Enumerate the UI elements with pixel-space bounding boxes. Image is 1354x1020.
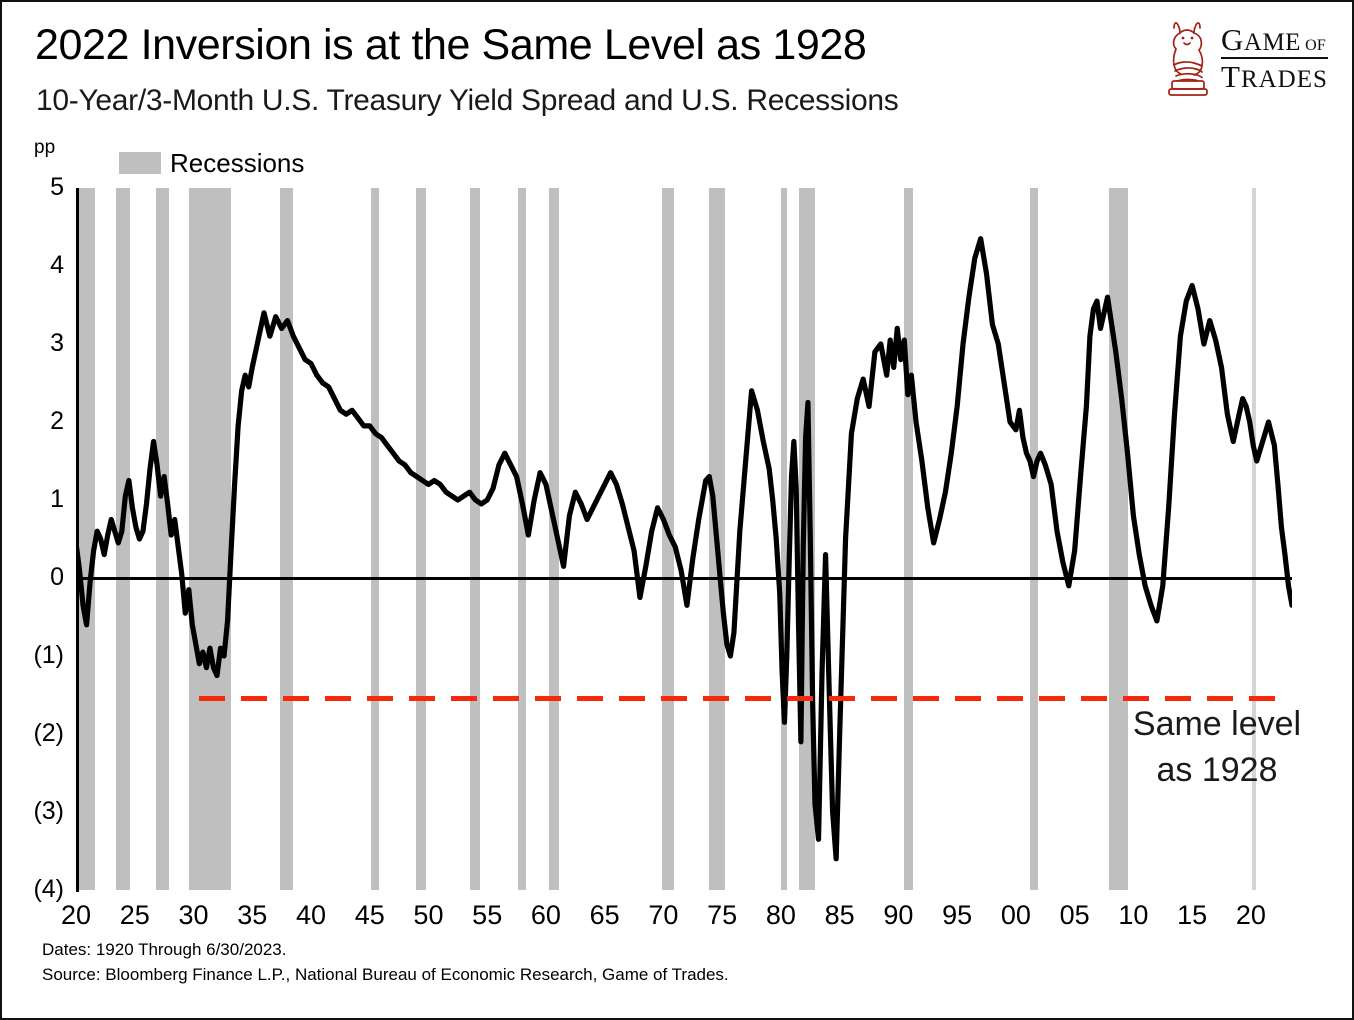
x-axis-tick-label: 00 [1001,902,1031,929]
x-axis-tick-label: 45 [355,902,385,929]
y-axis-line [76,188,79,892]
x-axis-tick-label: 25 [120,902,150,929]
footnote-source: Source: Bloomberg Finance L.P., National… [42,963,729,988]
y-axis-tick-label: 1 [50,487,64,512]
x-axis-tick-label: 80 [766,902,796,929]
y-axis-tick-label: 5 [50,175,64,200]
x-axis-tick-label: 20 [1236,902,1266,929]
x-axis-tick-label: 90 [883,902,913,929]
x-axis-tick-label: 35 [237,902,267,929]
x-axis-labels: 2025303540455055606570758085909500051015… [76,902,1292,938]
logo-game-rest: AME [1244,29,1301,56]
footnote-dates: Dates: 1920 Through 6/30/2023. [42,938,729,963]
y-axis-unit-label: pp [34,138,55,157]
brand-logo: GAME OF TRADES [1159,16,1334,100]
legend-label-recessions: Recessions [170,150,304,176]
logo-game-cap: G [1221,22,1244,57]
x-axis-tick-label: 05 [1060,902,1090,929]
x-axis-tick-label: 50 [413,902,443,929]
x-axis-tick-label: 65 [590,902,620,929]
y-axis-tick-label: (1) [33,643,64,668]
x-axis-tick-label: 70 [648,902,678,929]
chart-legend: Recessions [119,150,304,176]
x-axis-tick-label: 40 [296,902,326,929]
logo-wordmark: GAME OF TRADES [1221,24,1328,92]
reference-line-1928-level [199,696,1289,701]
logo-trades-rest: RADES [1241,66,1328,93]
chart-subtitle: 10-Year/3-Month U.S. Treasury Yield Spre… [36,86,898,116]
y-axis-tick-label: 4 [50,253,64,278]
footnotes: Dates: 1920 Through 6/30/2023. Source: B… [42,938,729,987]
annotation-line-1: Same level [1102,702,1332,748]
logo-of: OF [1305,37,1326,54]
y-axis-tick-label: (4) [33,877,64,902]
x-axis-tick-label: 15 [1177,902,1207,929]
y-axis-tick-label: 2 [50,409,64,434]
x-axis-tick-label: 30 [178,902,208,929]
x-axis-tick-label: 55 [472,902,502,929]
y-axis-tick-label: 0 [50,565,64,590]
y-axis-tick-label: (2) [33,721,64,746]
x-axis-tick-label: 75 [707,902,737,929]
y-axis-tick-label: (3) [33,799,64,824]
zero-baseline [76,577,1292,580]
legend-swatch-recessions [119,152,161,174]
bull-chess-piece-icon [1159,18,1215,98]
page-title: 2022 Inversion is at the Same Level as 1… [35,24,866,67]
x-axis-tick-label: 10 [1118,902,1148,929]
x-axis-tick-label: 85 [825,902,855,929]
y-axis-tick-label: 3 [50,331,64,356]
annotation-line-2: as 1928 [1102,748,1332,794]
x-axis-tick-label: 20 [61,902,91,929]
x-axis-tick-label: 60 [531,902,561,929]
logo-trades-cap: T [1221,59,1241,94]
x-axis-tick-label: 95 [942,902,972,929]
chart-canvas: 2022 Inversion is at the Same Level as 1… [0,0,1354,1020]
annotation-same-level: Same level as 1928 [1102,702,1332,794]
y-axis-labels: 543210(1)(2)(3)(4) [2,188,64,890]
